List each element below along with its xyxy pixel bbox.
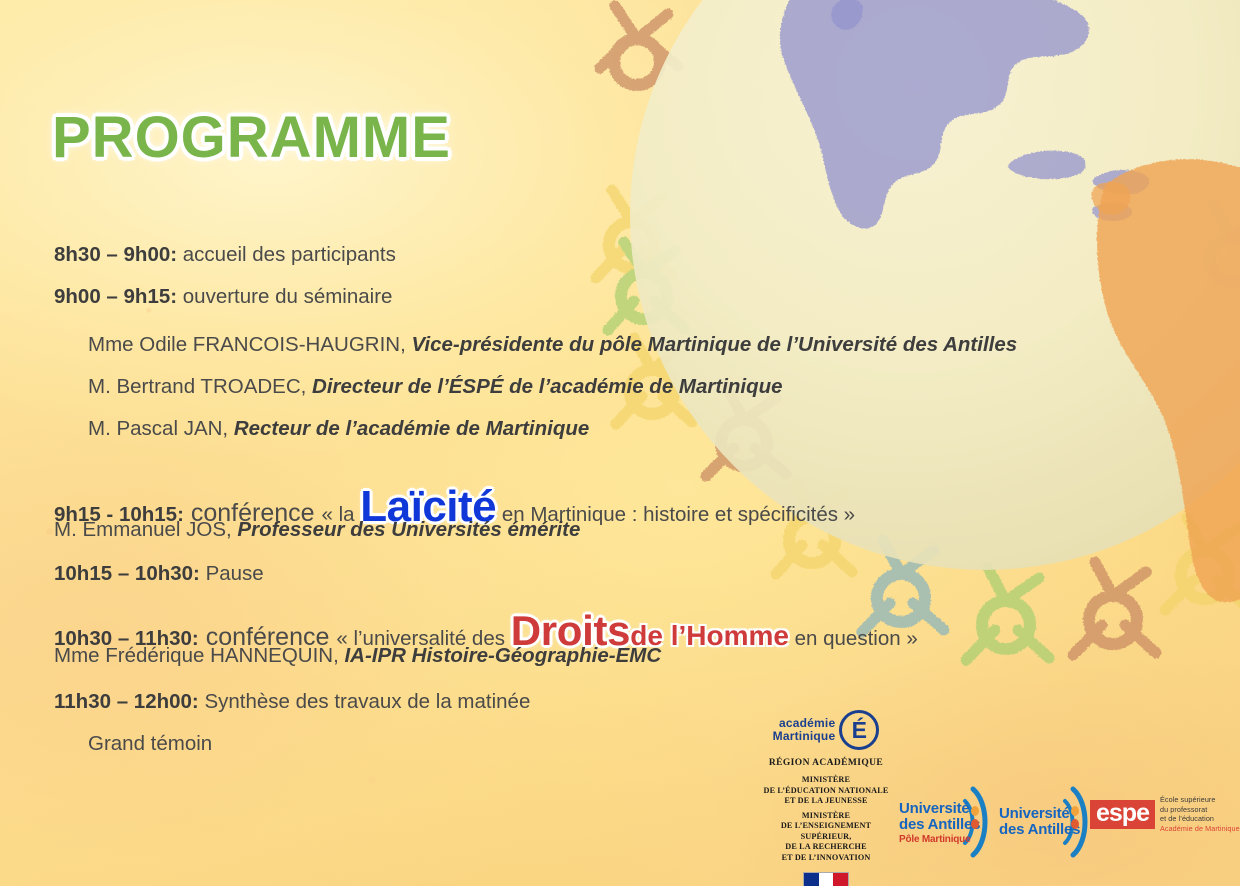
ministry-line: MINISTÈRE [756, 775, 896, 786]
academie-word2: Martinique [773, 730, 836, 743]
poster-canvas: PROGRAMME 8h30 – 9h00: accueil des parti… [0, 0, 1240, 886]
espe-line1: École supérieure [1160, 795, 1240, 805]
ministry-line: DE L’ENSEIGNEMENT SUPÉRIEUR, [756, 821, 896, 842]
logo-universite-antilles-pole-martinique: Université des Antilles Pôle Martinique [885, 785, 995, 859]
ministry-line: ET DE LA JEUNESSE [756, 796, 896, 807]
ua-dot-orange [1071, 806, 1079, 816]
ministry-line: MINISTÈRE [756, 811, 896, 822]
ua-dots-icon [1071, 806, 1079, 832]
espe-brand: espe [1090, 800, 1155, 829]
espe-row: espe École supérieure du professorat et … [1090, 795, 1240, 833]
espe-subtitle: École supérieure du professorat et de l’… [1160, 795, 1240, 833]
ua-line2: des Antilles [999, 822, 1080, 838]
ua-wordmark: Université des Antilles Pôle Martinique [899, 801, 980, 846]
espe-line4: Académie de Martinique [1160, 824, 1240, 834]
logo-universite-antilles: Université des Antilles [985, 785, 1095, 859]
academie-emblem-row: académie Martinique É [756, 710, 896, 750]
espe-line3: et de l’éducation [1160, 814, 1240, 824]
ua-dot-orange [971, 806, 979, 816]
ua-dots-icon [971, 806, 979, 832]
ministry-text: MINISTÈRE DE L’ÉDUCATION NATIONALE ET DE… [756, 775, 896, 863]
flag-blue-bar [804, 873, 819, 886]
academie-wordmark: académie Martinique [773, 717, 836, 742]
ministry-line: ET DE L’INNOVATION [756, 853, 896, 864]
flag-bars [803, 872, 849, 886]
academie-e-icon: É [839, 710, 879, 750]
ua-line1: Université [899, 801, 980, 817]
logo-academie-martinique: académie Martinique É RÉGION ACADÉMIQUE … [756, 710, 896, 886]
logo-strip: académie Martinique É RÉGION ACADÉMIQUE … [0, 0, 1240, 886]
ua-line1: Université [999, 806, 1080, 822]
ua-dot-red [1071, 819, 1079, 829]
french-flag-icon: Liberté · Égalité · Fraternité RÉPUBLIQU… [803, 872, 849, 886]
region-academique-label: RÉGION ACADÉMIQUE [756, 758, 896, 768]
espe-line2: du professorat [1160, 805, 1240, 815]
ministry-line: DE L’ÉDUCATION NATIONALE [756, 786, 896, 797]
flag-red-bar [833, 873, 848, 886]
ministry-line: DE LA RECHERCHE [756, 842, 896, 853]
ua-line2: des Antilles [899, 817, 980, 833]
logo-espe: espe École supérieure du professorat et … [1090, 795, 1240, 833]
ua-line3: Pôle Martinique [899, 834, 980, 846]
flag-white-bar [819, 873, 834, 886]
ua-wordmark: Université des Antilles [999, 806, 1080, 838]
ua-dot-red [971, 819, 979, 829]
